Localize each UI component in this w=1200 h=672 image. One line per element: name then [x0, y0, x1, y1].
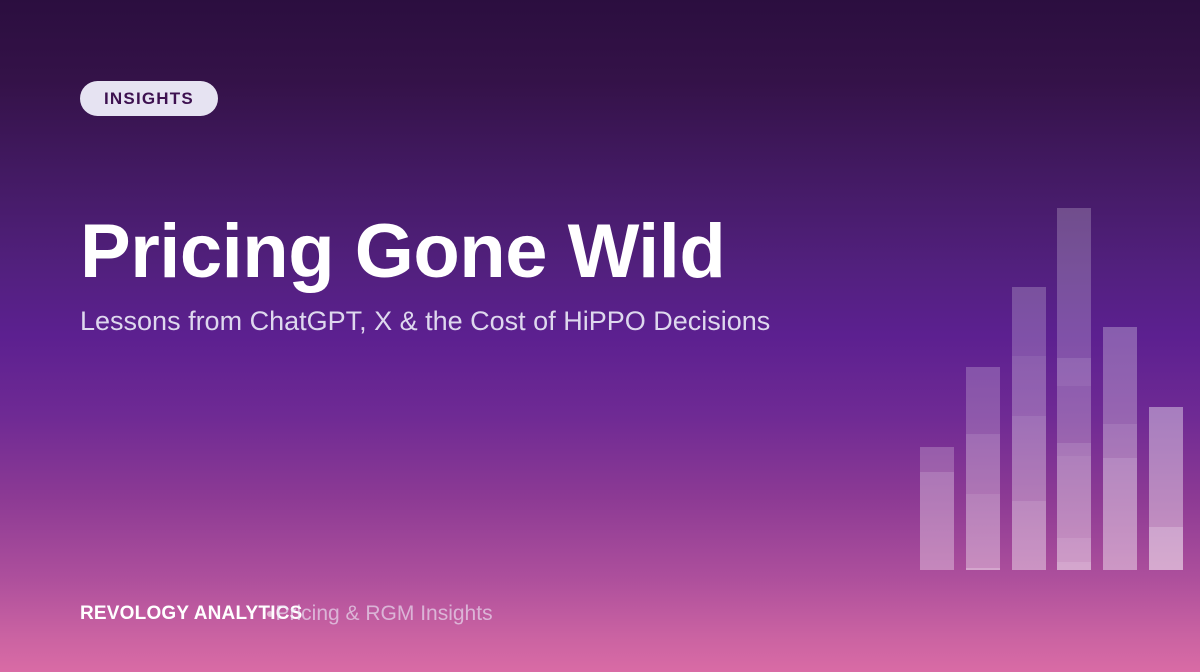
chart-bar-segment	[1012, 501, 1046, 570]
chart-bar-segment	[920, 472, 954, 570]
page-subtitle: Lessons from ChatGPT, X & the Cost of Hi…	[80, 305, 770, 337]
page-title: Pricing Gone Wild	[80, 214, 725, 290]
chart-bar-segment	[1012, 356, 1046, 416]
chart-bar-segment	[1012, 287, 1046, 356]
chart-bar-segment	[966, 568, 1000, 570]
chart-bar-segment	[1057, 562, 1091, 570]
insights-badge-label: INSIGHTS	[104, 89, 194, 109]
chart-bar	[1103, 327, 1137, 570]
chart-bar	[1012, 287, 1046, 570]
chart-bar-segment	[1103, 327, 1137, 424]
chart-bar-segment	[1057, 358, 1091, 386]
chart-bar-segment	[966, 494, 1000, 568]
chart-bar-segment	[1057, 386, 1091, 443]
chart-bar	[1057, 208, 1091, 570]
decorative-bar-chart	[900, 150, 1200, 570]
chart-bar	[1149, 407, 1183, 570]
bullet-separator-icon	[267, 611, 273, 617]
chart-bar-segment	[1149, 527, 1183, 570]
chart-bar-segment	[1103, 458, 1137, 570]
chart-bar-segment	[920, 447, 954, 472]
hero-banner: INSIGHTS Pricing Gone Wild Lessons from …	[0, 0, 1200, 672]
chart-bar-segment	[966, 367, 1000, 434]
footer: REVOLOGY ANALYTICS Pricing & RGM Insight…	[80, 602, 493, 626]
chart-bar-segment	[1057, 443, 1091, 456]
chart-bar-segment	[1012, 416, 1046, 501]
chart-bar-segment	[966, 434, 1000, 494]
chart-bar-segment	[1057, 208, 1091, 358]
chart-bar-segment	[1057, 456, 1091, 538]
brand-tagline: Pricing & RGM Insights	[276, 602, 493, 626]
chart-bar	[920, 447, 954, 570]
insights-badge: INSIGHTS	[80, 81, 218, 116]
chart-bar-segment	[1103, 424, 1137, 458]
chart-bar-segment	[1057, 538, 1091, 562]
chart-bar-segment	[1149, 407, 1183, 527]
chart-bar	[966, 367, 1000, 570]
